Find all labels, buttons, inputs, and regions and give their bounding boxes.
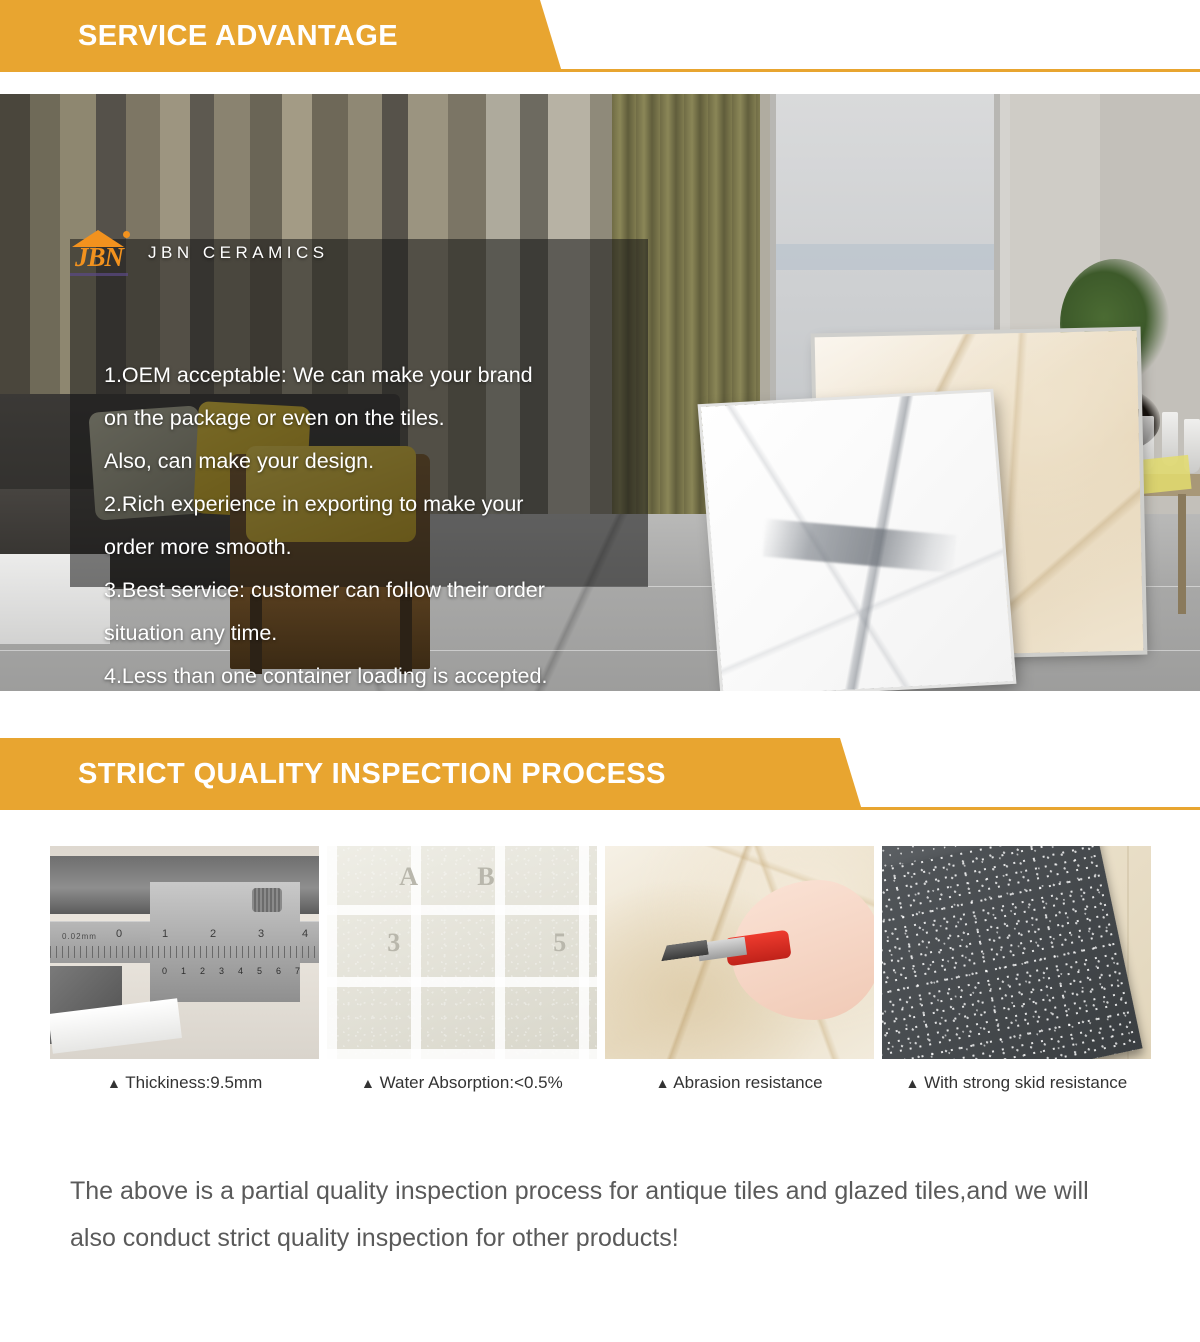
caliper-vernier-1: 1 bbox=[181, 966, 186, 976]
caliper-vernier-6: 6 bbox=[276, 966, 281, 976]
caliper-ticks bbox=[50, 946, 319, 958]
inspection-caption: ▲ Water Absorption:<0.5% bbox=[327, 1073, 596, 1093]
abrasion-test-photo bbox=[605, 846, 874, 1059]
inspection-grid: 0.02mm 0 1 2 3 4 0 1 2 3 4 5 6 7 ▲ Thick… bbox=[50, 846, 1151, 1093]
service-advantage-banner: SERVICE ADVANTAGE bbox=[0, 0, 1200, 72]
service-advantage-copy: 1.OEM acceptable: We can make your brand… bbox=[104, 354, 644, 691]
banner-underline bbox=[0, 69, 1200, 72]
water-absorption-photo: A B 3 5 bbox=[327, 846, 596, 1059]
inspection-caption-text: Abrasion resistance bbox=[673, 1073, 822, 1092]
triangle-bullet-icon: ▲ bbox=[906, 1075, 920, 1091]
roof-dot bbox=[123, 231, 130, 238]
inspection-caption: ▲ With strong skid resistance bbox=[882, 1073, 1151, 1093]
white-carrara-tile bbox=[701, 392, 1013, 691]
caliper-slider bbox=[150, 882, 300, 1002]
inspection-caption: ▲ Thickiness:9.5mm bbox=[50, 1073, 319, 1093]
vernier-caliper-photo: 0.02mm 0 1 2 3 4 0 1 2 3 4 5 6 7 bbox=[50, 846, 319, 1059]
skid-resistance-photo bbox=[882, 846, 1151, 1059]
inspection-item: A B 3 5 ▲ Water Absorption:<0.5% bbox=[327, 846, 596, 1093]
caliper-vernier-4: 4 bbox=[238, 966, 243, 976]
caliper-vernier-2: 2 bbox=[200, 966, 205, 976]
service-advantage-title: SERVICE ADVANTAGE bbox=[0, 20, 398, 53]
caliper-scale-3: 3 bbox=[258, 928, 264, 940]
triangle-bullet-icon: ▲ bbox=[656, 1075, 670, 1091]
inspection-caption: ▲ Abrasion resistance bbox=[605, 1073, 874, 1093]
caliper-scale-0: 0 bbox=[116, 928, 122, 940]
embossed-letter-b: B bbox=[477, 862, 494, 892]
logo-wordmark: JBN CERAMICS bbox=[148, 243, 329, 263]
inspection-item: ▲ With strong skid resistance bbox=[882, 846, 1151, 1093]
caliper-scale-1: 1 bbox=[162, 928, 168, 940]
inspection-item: ▲ Abrasion resistance bbox=[605, 846, 874, 1093]
inspection-caption-text: Thickiness:9.5mm bbox=[125, 1073, 262, 1092]
embossed-number-3: 3 bbox=[387, 928, 400, 958]
quality-inspection-banner: STRICT QUALITY INSPECTION PROCESS bbox=[0, 738, 1200, 810]
house-roof-icon: JBN bbox=[66, 230, 132, 276]
triangle-bullet-icon: ▲ bbox=[107, 1075, 121, 1091]
caliper-scale-4: 4 bbox=[302, 928, 308, 940]
embossed-letter-a: A bbox=[399, 862, 418, 892]
embossed-number-5: 5 bbox=[553, 928, 566, 958]
inspection-caption-text: Water Absorption:<0.5% bbox=[380, 1073, 563, 1092]
caliper-vernier-3: 3 bbox=[219, 966, 224, 976]
inspection-note: The above is a partial quality inspectio… bbox=[70, 1168, 1120, 1262]
logo-underbar bbox=[70, 273, 128, 276]
banner-shape: STRICT QUALITY INSPECTION PROCESS bbox=[0, 738, 1200, 810]
brand-logo: JBN JBN CERAMICS bbox=[66, 230, 329, 276]
inspection-item: 0.02mm 0 1 2 3 4 0 1 2 3 4 5 6 7 ▲ Thick… bbox=[50, 846, 319, 1093]
caliper-vernier-0: 0 bbox=[162, 966, 167, 976]
inspection-caption-text: With strong skid resistance bbox=[924, 1073, 1127, 1092]
caliper-vernier-7: 7 bbox=[295, 966, 300, 976]
banner-underline bbox=[0, 807, 1200, 810]
caliper-precision-label: 0.02mm bbox=[62, 932, 97, 941]
product-detail-page: SERVICE ADVANTAGE bbox=[0, 0, 1200, 1342]
service-advantage-hero: JBN JBN CERAMICS 1.OEM acceptable: We ca… bbox=[0, 94, 1200, 691]
quality-inspection-title: STRICT QUALITY INSPECTION PROCESS bbox=[0, 758, 666, 791]
banner-shape: SERVICE ADVANTAGE bbox=[0, 0, 1200, 72]
anti-slip-tile-front bbox=[882, 846, 1143, 1059]
dining-table-leg bbox=[1178, 494, 1186, 614]
caliper-thumb-knob bbox=[252, 888, 282, 912]
caliper-scale-2: 2 bbox=[210, 928, 216, 940]
triangle-bullet-icon: ▲ bbox=[361, 1075, 375, 1091]
caliper-vernier-5: 5 bbox=[257, 966, 262, 976]
logo-mark-text: JBN bbox=[66, 242, 132, 273]
